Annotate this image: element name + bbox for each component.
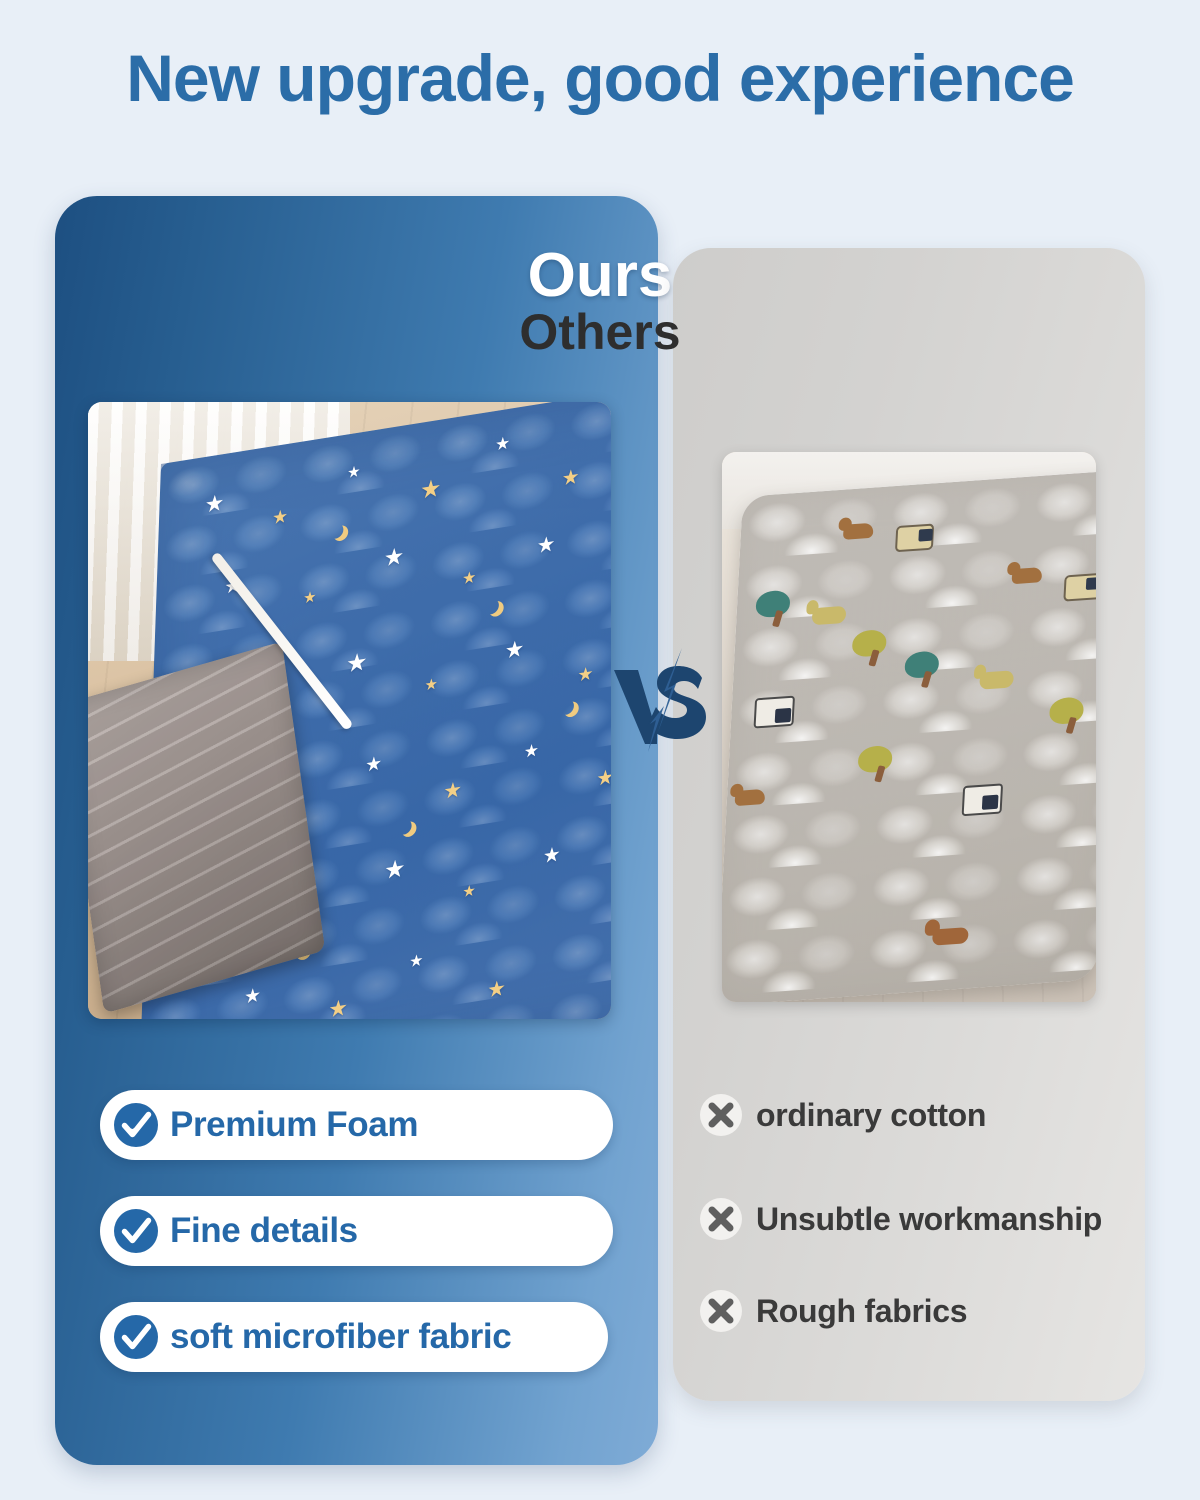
- feature-pill-premium-foam: Premium Foam: [100, 1090, 613, 1160]
- moon-print: [328, 522, 343, 540]
- drawback-label: Unsubtle workmanship: [756, 1201, 1102, 1238]
- backpack-motif: [962, 783, 1003, 816]
- others-panel-title: Others: [0, 303, 1200, 361]
- backpack-motif: [754, 696, 795, 729]
- house-motif: [1064, 573, 1096, 602]
- drawback-label: ordinary cotton: [756, 1097, 986, 1134]
- vs-badge-graphic: [612, 648, 716, 758]
- white-quilted-mat: [722, 470, 1096, 1002]
- others-product-photo: [722, 452, 1096, 1002]
- dog-motif: [1012, 567, 1043, 584]
- x-circle-icon: [698, 1092, 744, 1138]
- drawback-item-rough-fabrics: Rough fabrics: [698, 1288, 967, 1334]
- feature-pill-fine-details: Fine details: [100, 1196, 613, 1266]
- x-circle-icon: [698, 1288, 744, 1334]
- moon-print: [484, 598, 499, 616]
- comparison-infographic: New upgrade, good experience Ours ★ ★ ★ …: [0, 0, 1200, 1500]
- feature-label: Premium Foam: [170, 1105, 418, 1145]
- house-motif: [896, 524, 935, 553]
- drawback-item-unsubtle-workmanship: Unsubtle workmanship: [698, 1196, 1102, 1242]
- vs-badge: [612, 648, 716, 758]
- drawback-item-ordinary-cotton: ordinary cotton: [698, 1092, 986, 1138]
- drawback-label: Rough fabrics: [756, 1293, 967, 1330]
- x-circle-icon: [698, 1196, 744, 1242]
- moon-print: [559, 698, 574, 716]
- feature-label: Fine details: [170, 1211, 358, 1251]
- ours-product-photo: ★ ★ ★ ★ ★ ★ ★ ★ ★ ★ ★ ★ ★ ★ ★ ★ ★ ★ ★ ★: [88, 402, 611, 1019]
- feature-pill-soft-microfiber-fabric: soft microfiber fabric: [100, 1302, 608, 1372]
- feature-label: soft microfiber fabric: [170, 1317, 511, 1357]
- check-circle-icon: [112, 1313, 160, 1361]
- moon-print: [397, 817, 412, 835]
- page-title: New upgrade, good experience: [0, 44, 1200, 113]
- check-circle-icon: [112, 1101, 160, 1149]
- folded-gray-underside: [88, 642, 325, 1014]
- check-circle-icon: [112, 1207, 160, 1255]
